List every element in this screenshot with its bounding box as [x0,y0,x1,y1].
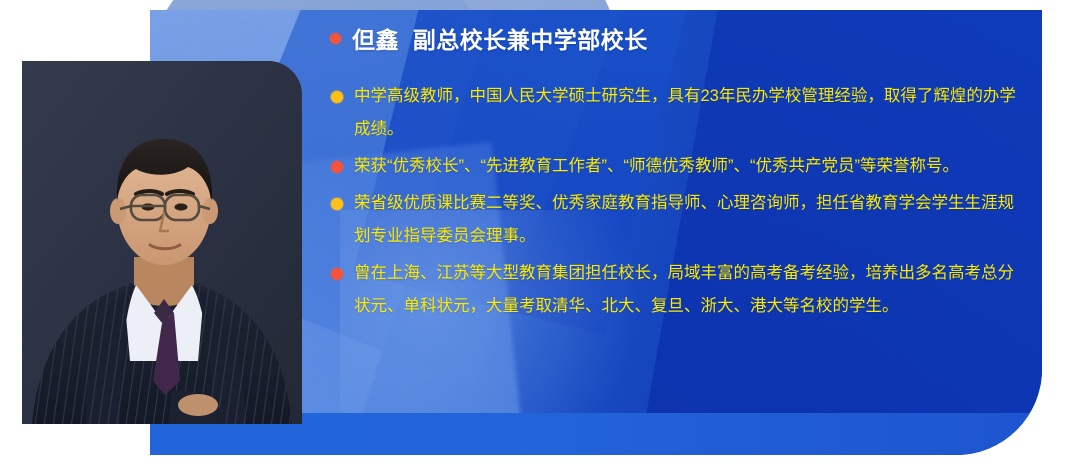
heading-bullet-icon [330,33,341,44]
page-title: 但鑫 副总校长兼中学部校长 [330,16,1030,60]
bullet-dot-icon [331,91,343,103]
bio-item: 中学高级教师，中国人民大学硕士研究生，具有23年民办学校管理经验，取得了辉煌的办… [330,80,1030,146]
bullet-dot-icon [331,198,343,210]
profile-card-slide: 但鑫 副总校长兼中学部校长 中学高级教师，中国人民大学硕士研究生，具有23年民办… [0,0,1080,475]
bio-item: 荣省级优质课比赛二等奖、优秀家庭教育指导师、心理咨询师，担任省教育学会学生生涯规… [330,187,1030,253]
bullet-dot-icon [331,268,343,280]
heading-text: 但鑫 副总校长兼中学部校长 [352,21,648,55]
bio-text: 荣省级优质课比赛二等奖、优秀家庭教育指导师、心理咨询师，担任省教育学会学生生涯规… [354,187,1030,253]
bio-text: 曾在上海、江苏等大型教育集团担任校长，局域丰富的高考备考经验，培养出多名高考总分… [354,257,1030,323]
portrait-photo [22,61,302,424]
bio-text: 荣获“优秀校长”、“先进教育工作者”、“师德优秀教师”、“优秀共产党员”等荣誉称… [354,150,1030,183]
profile-content: 但鑫 副总校长兼中学部校长 中学高级教师，中国人民大学硕士研究生，具有23年民办… [330,16,1030,327]
portrait-illustration [22,61,302,424]
bio-text: 中学高级教师，中国人民大学硕士研究生，具有23年民办学校管理经验，取得了辉煌的办… [354,80,1030,146]
bullet-dot-icon [331,161,343,173]
bio-item: 荣获“优秀校长”、“先进教育工作者”、“师德优秀教师”、“优秀共产党员”等荣誉称… [330,150,1030,183]
bio-item: 曾在上海、江苏等大型教育集团担任校长，局域丰富的高考备考经验，培养出多名高考总分… [330,257,1030,323]
